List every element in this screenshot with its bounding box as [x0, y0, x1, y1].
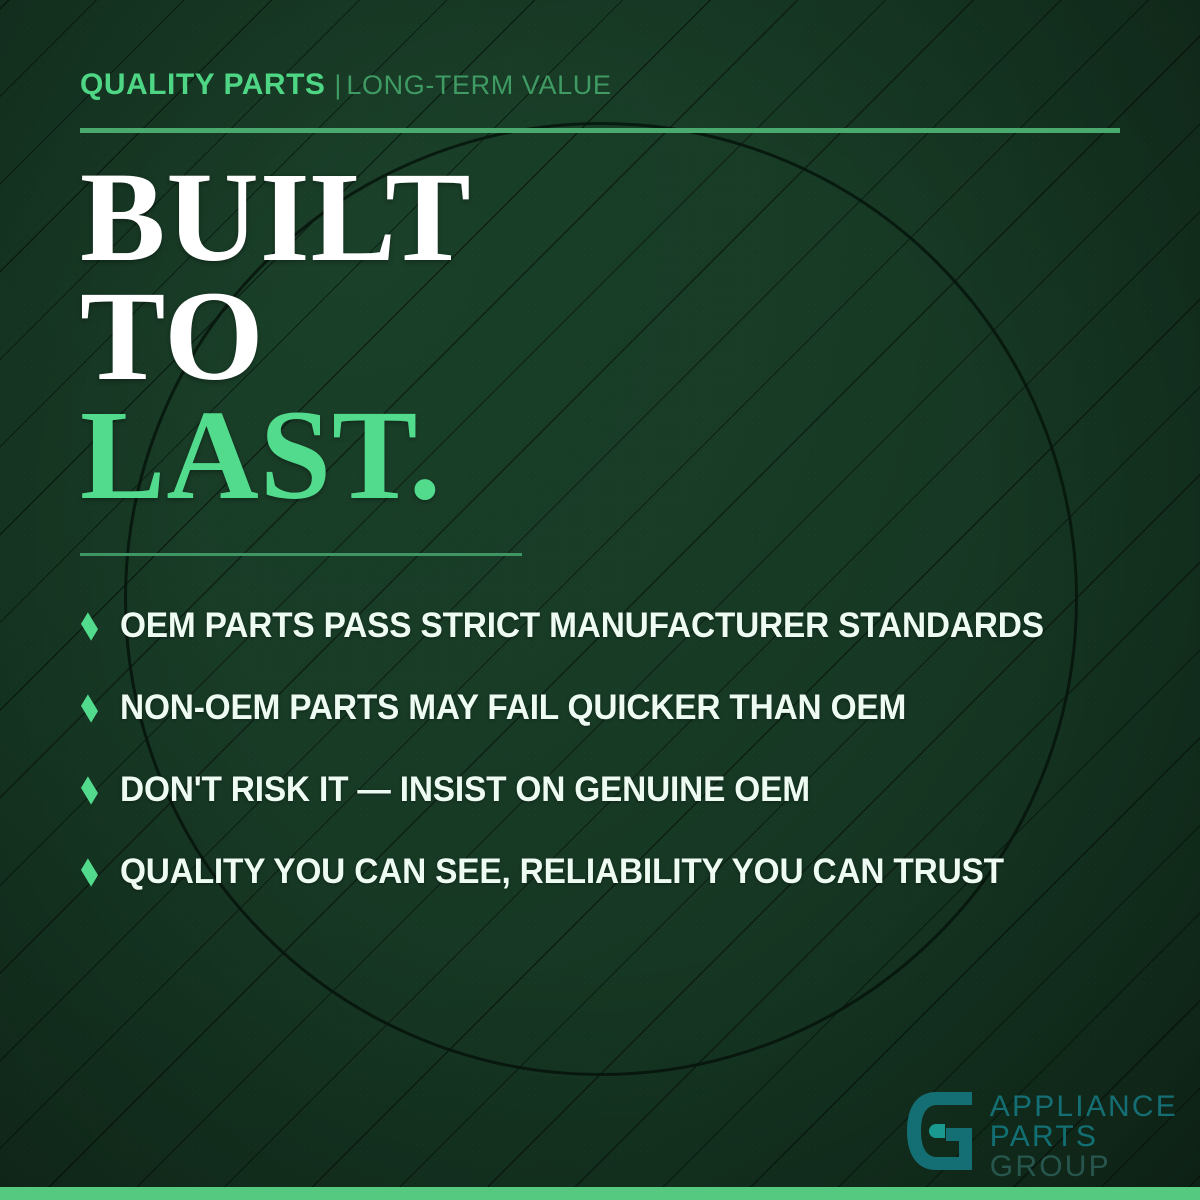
page-title: BUILT TO LAST. — [80, 158, 472, 515]
list-item-label: NON-OEM PARTS MAY FAIL QUICKER THAN OEM — [120, 688, 906, 728]
logo-word-line-2: PARTS — [990, 1122, 1178, 1152]
brand-logo: APPLIANCE PARTS GROUP — [902, 1088, 1178, 1182]
poster-canvas: QUALITY PARTS|LONG-TERM VALUE BUILT TO L… — [0, 0, 1200, 1200]
list-item: OEM PARTS PASS STRICT MANUFACTURER STAND… — [80, 585, 1135, 667]
headline-line-1: BUILT — [80, 158, 472, 277]
eyebrow-sub-label: LONG-TERM VALUE — [346, 70, 611, 100]
appliance-parts-group-g-mark-icon — [902, 1088, 980, 1174]
eyebrow-separator: | — [334, 70, 341, 100]
diamond-bullet-icon — [81, 694, 98, 722]
list-item-label: DON'T RISK IT — INSIST ON GENUINE OEM — [120, 770, 810, 810]
headline-line-3: LAST. — [80, 396, 472, 515]
bottom-accent-bar — [0, 1187, 1200, 1200]
headline-line-2: TO — [80, 277, 472, 396]
list-item: NON-OEM PARTS MAY FAIL QUICKER THAN OEM — [80, 667, 1135, 749]
list-item: QUALITY YOU CAN SEE, RELIABILITY YOU CAN… — [80, 831, 1135, 913]
eyebrow-main-label: QUALITY PARTS — [80, 68, 325, 101]
eyebrow-header: QUALITY PARTS|LONG-TERM VALUE — [80, 70, 611, 100]
list-item-label: QUALITY YOU CAN SEE, RELIABILITY YOU CAN… — [120, 852, 1004, 892]
benefit-list: OEM PARTS PASS STRICT MANUFACTURER STAND… — [80, 585, 1135, 913]
logo-wordmark: APPLIANCE PARTS GROUP — [990, 1088, 1178, 1182]
list-item: DON'T RISK IT — INSIST ON GENUINE OEM — [80, 749, 1135, 831]
diamond-bullet-icon — [81, 612, 98, 640]
logo-word-line-3: GROUP — [990, 1152, 1178, 1182]
diamond-bullet-icon — [81, 776, 98, 804]
list-item-label: OEM PARTS PASS STRICT MANUFACTURER STAND… — [120, 606, 1044, 646]
poster-content: QUALITY PARTS|LONG-TERM VALUE BUILT TO L… — [0, 0, 1200, 1200]
header-divider-rule — [80, 128, 1120, 133]
logo-word-line-1: APPLIANCE — [990, 1092, 1178, 1122]
headline-divider-rule — [80, 553, 522, 556]
diamond-bullet-icon — [81, 858, 98, 886]
